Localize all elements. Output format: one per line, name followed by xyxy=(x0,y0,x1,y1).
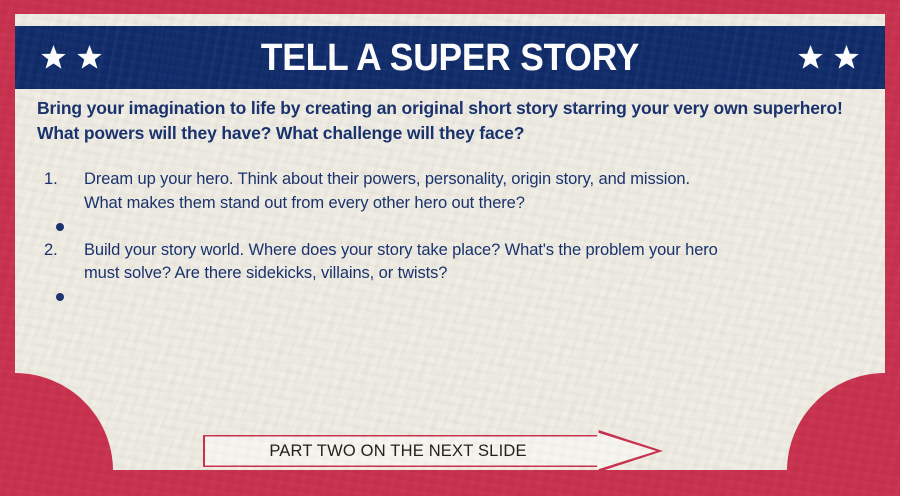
list-item-number: 2. xyxy=(37,239,84,263)
list-item-text: Build your story world. Where does your … xyxy=(84,239,863,287)
list-item-text: Dream up your hero. Think about their po… xyxy=(84,168,863,216)
stars-right-group xyxy=(767,45,859,70)
page-title: TELL A SUPER STORY xyxy=(155,39,745,77)
task-list: 1. Dream up your hero. Think about their… xyxy=(37,168,863,302)
stars-left-group xyxy=(41,45,133,70)
list-item: 1. Dream up your hero. Think about their… xyxy=(37,168,863,231)
list-item-line2: What makes them stand out from every oth… xyxy=(84,192,863,216)
title-banner: TELL A SUPER STORY xyxy=(15,26,885,89)
list-item-number: 1. xyxy=(37,168,84,192)
list-item-line1: Dream up your hero. Think about their po… xyxy=(84,170,690,188)
arrow-banner-label: PART TWO ON THE NEXT SLIDE xyxy=(203,430,593,472)
list-item-line1: Build your story world. Where does your … xyxy=(84,241,718,259)
star-icon xyxy=(798,45,823,70)
bottom-crimson-bar xyxy=(15,470,885,496)
next-slide-arrow-banner: PART TWO ON THE NEXT SLIDE xyxy=(203,430,663,472)
list-item-line2: must solve? Are there sidekicks, villain… xyxy=(84,262,863,286)
star-icon xyxy=(77,45,102,70)
list-item: 2. Build your story world. Where does yo… xyxy=(37,239,863,302)
star-icon xyxy=(834,45,859,70)
slide-canvas: TELL A SUPER STORY Bring your imaginatio… xyxy=(0,0,900,496)
star-icon xyxy=(41,45,66,70)
intro-paragraph: Bring your imagination to life by creati… xyxy=(37,96,869,146)
task-row: 2. Build your story world. Where does yo… xyxy=(37,239,863,287)
body-content: Bring your imagination to life by creati… xyxy=(15,96,885,309)
task-row: 1. Dream up your hero. Think about their… xyxy=(37,168,863,216)
empty-bullet-icon xyxy=(56,223,64,231)
empty-bullet-icon xyxy=(56,293,64,301)
